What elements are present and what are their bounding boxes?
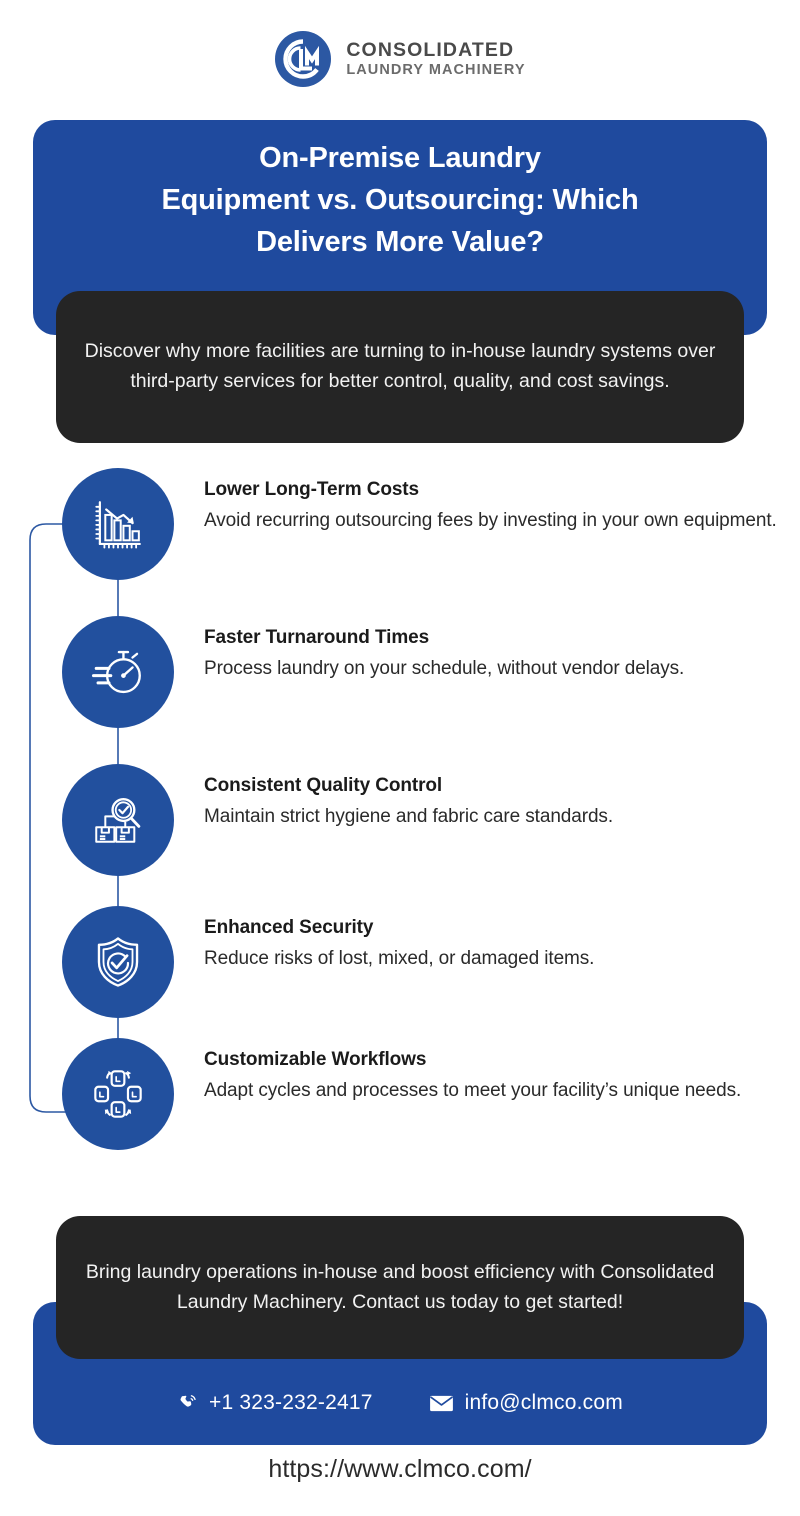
workflow-cycle-icon — [62, 1038, 174, 1150]
brand-name-line2: LAUNDRY MACHINERY — [346, 62, 525, 78]
list-item[interactable]: Faster Turnaround Times Process laundry … — [62, 616, 782, 728]
feature-title: Customizable Workflows — [204, 1048, 782, 1073]
subtitle-text: Discover why more facilities are turning… — [82, 337, 718, 396]
clm-circle-logo-icon — [274, 30, 332, 88]
feature-list: Lower Long-Term Costs Avoid recurring ou… — [0, 468, 800, 1168]
email-address: info@clmco.com — [465, 1391, 623, 1415]
website-url[interactable]: https://www.clmco.com/ — [0, 1455, 800, 1484]
page-title-line-2: Equipment vs. Outsourcing: Which — [60, 180, 740, 222]
feature-text-block: Customizable Workflows Adapt cycles and … — [174, 1038, 782, 1104]
feature-title: Lower Long-Term Costs — [204, 478, 782, 503]
feature-title: Enhanced Security — [204, 916, 782, 941]
page-title: On-Premise Laundry Equipment vs. Outsour… — [60, 138, 740, 263]
brand-wordmark: CONSOLIDATED LAUNDRY MACHINERY — [346, 40, 525, 78]
phone-contact[interactable]: +1 323-232-2417 — [177, 1391, 373, 1415]
contact-bar: +1 323-232-2417 info@clmco.com — [33, 1372, 767, 1434]
list-item[interactable]: Enhanced Security Reduce risks of lost, … — [62, 906, 782, 1018]
feature-text-block: Enhanced Security Reduce risks of lost, … — [174, 906, 782, 972]
email-contact[interactable]: info@clmco.com — [429, 1391, 623, 1415]
subtitle-card: Discover why more facilities are turning… — [56, 291, 744, 443]
feature-title: Faster Turnaround Times — [204, 626, 782, 651]
envelope-icon — [429, 1394, 454, 1413]
shield-check-icon — [62, 906, 174, 1018]
page-title-line-3: Delivers More Value? — [60, 222, 740, 264]
feature-text-block: Lower Long-Term Costs Avoid recurring ou… — [174, 468, 782, 534]
feature-description: Maintain strict hygiene and fabric care … — [204, 803, 782, 831]
cta-card: Bring laundry operations in-house and bo… — [56, 1216, 744, 1359]
feature-description: Adapt cycles and processes to meet your … — [204, 1077, 782, 1105]
page-title-line-1: On-Premise Laundry — [60, 138, 740, 180]
list-item[interactable]: Consistent Quality Control Maintain stri… — [62, 764, 782, 876]
stopwatch-speed-icon — [62, 616, 174, 728]
phone-number: +1 323-232-2417 — [209, 1391, 373, 1415]
infographic-page: CONSOLIDATED LAUNDRY MACHINERY On-Premis… — [0, 0, 800, 1516]
feature-description: Reduce risks of lost, mixed, or damaged … — [204, 945, 782, 973]
phone-ringing-icon — [177, 1393, 198, 1414]
magnifier-check-boxes-icon — [62, 764, 174, 876]
brand-header: CONSOLIDATED LAUNDRY MACHINERY — [0, 28, 800, 90]
cta-text: Bring laundry operations in-house and bo… — [80, 1258, 720, 1317]
feature-text-block: Faster Turnaround Times Process laundry … — [174, 616, 782, 682]
feature-description: Process laundry on your schedule, withou… — [204, 655, 782, 683]
declining-bar-chart-icon — [62, 468, 174, 580]
feature-text-block: Consistent Quality Control Maintain stri… — [174, 764, 782, 830]
feature-title: Consistent Quality Control — [204, 774, 782, 799]
list-item[interactable]: Lower Long-Term Costs Avoid recurring ou… — [62, 468, 782, 580]
list-item[interactable]: Customizable Workflows Adapt cycles and … — [62, 1038, 782, 1150]
feature-description: Avoid recurring outsourcing fees by inve… — [204, 507, 782, 535]
brand-name-line1: CONSOLIDATED — [346, 40, 525, 62]
